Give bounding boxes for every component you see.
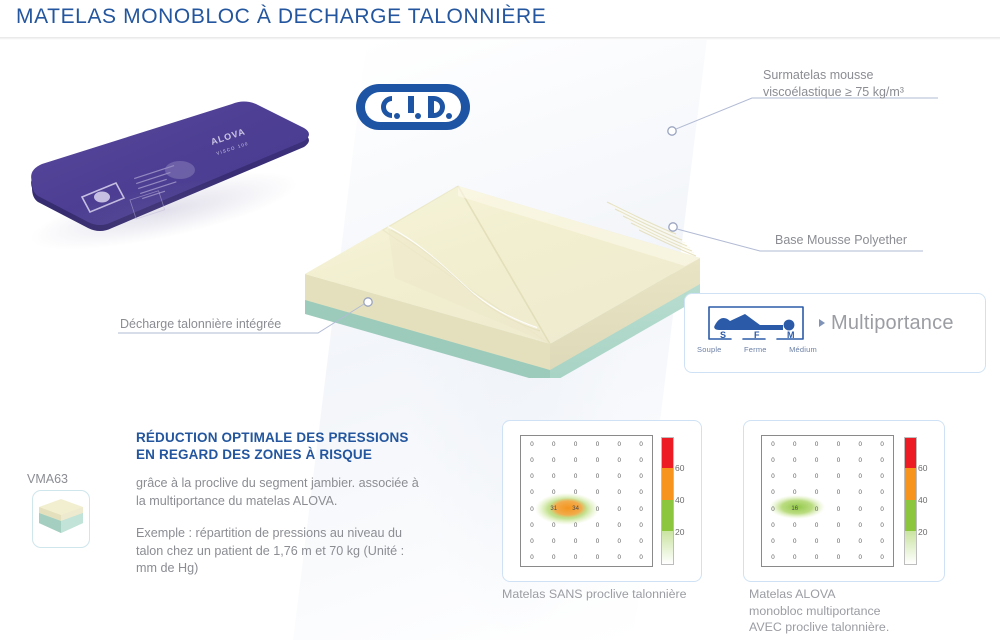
pressure-grid-cells-left: 0000000000000000000000000313400000000000… [521,436,652,566]
colorbar-ticks-left: 60 40 20 [675,437,699,563]
colorbar-left [661,437,674,565]
callout-base-mousse-line1: Base Mousse Polyether [775,232,907,249]
pressure-cell: 0 [849,534,871,550]
callout-surmatelas-line1: Surmatelas mousse [763,67,904,84]
pressure-cell: 0 [784,452,806,468]
pressure-cell: 0 [871,501,893,517]
pressure-cell: 0 [806,485,828,501]
description-paragraph-2: Exemple : répartition de pressions au ni… [136,525,426,578]
pressure-cell: 0 [630,501,652,517]
pressure-cell: 0 [784,550,806,566]
pressure-cell: 0 [871,534,893,550]
pressure-cell: 34 [565,501,587,517]
pressure-cell: 0 [806,550,828,566]
pressure-cell: 0 [543,517,565,533]
chart-caption-right-line2: monobloc multiportance [749,603,889,620]
pressure-cell: 0 [849,469,871,485]
pressure-cell: 0 [587,550,609,566]
pressure-cell: 0 [828,501,850,517]
pressure-cell: 0 [828,436,850,452]
colorbar-ticks-right: 60 40 20 [918,437,942,563]
chevron-right-icon [819,319,825,327]
multiportance-card[interactable]: S F M Souple Ferme Médium Multiportance [684,293,986,373]
svg-text:M: M [787,330,795,340]
pressure-cell: 0 [565,534,587,550]
product-code-label: VMA63 [27,472,68,486]
pressure-cell: 0 [565,517,587,533]
description-block: RÉDUCTION OPTIMALE DES PRESSIONS EN REGA… [136,430,426,578]
pressure-cell: 0 [806,469,828,485]
pressure-cell: 0 [565,469,587,485]
colorbar-right [904,437,917,565]
pressure-cell: 0 [849,485,871,501]
pressure-cell: 0 [630,517,652,533]
colorbar-tick-60-right: 60 [918,463,927,473]
pressure-cell: 0 [543,469,565,485]
callout-surmatelas-line2: viscoélastique ≥ 75 kg/m³ [763,84,904,101]
pressure-cell: 0 [871,517,893,533]
pressure-cell: 0 [587,485,609,501]
page-title: MATELAS MONOBLOC À DECHARGE TALONNIÈRE [16,5,546,29]
pressure-cell: 0 [806,501,828,517]
pressure-cell: 0 [608,485,630,501]
description-heading-line1: RÉDUCTION OPTIMALE DES PRESSIONS [136,430,426,447]
pressure-cell: 0 [608,550,630,566]
chart-caption-right-line1: Matelas ALOVA [749,586,889,603]
description-heading-line2: EN REGARD DES ZONES À RISQUE [136,447,426,464]
pressure-chart-card-left[interactable]: 0000000000000000000000000313400000000000… [502,420,702,582]
pressure-cell: 0 [521,517,543,533]
pressure-cell: 0 [565,436,587,452]
pressure-cell: 0 [849,550,871,566]
pressure-cell: 0 [762,469,784,485]
svg-text:S: S [720,330,726,340]
pressure-cell: 0 [784,517,806,533]
pressure-cell: 0 [871,452,893,468]
chart-caption-right: Matelas ALOVA monobloc multiportance AVE… [749,586,889,636]
firmness-label-souple: Souple [697,345,722,354]
mattress-3d-illustration [275,78,705,378]
firmness-legend: Souple Ferme Médium [697,345,817,354]
firmness-label-medium: Médium [789,345,817,354]
pressure-cell: 0 [762,534,784,550]
pressure-cell: 0 [828,452,850,468]
description-paragraph-1: grâce à la proclive du segment jambier. … [136,475,426,510]
pressure-cell: 0 [784,534,806,550]
pressure-cell: 0 [871,469,893,485]
firmness-label-ferme: Ferme [744,345,767,354]
pressure-chart-card-right[interactable]: 0000000000000000000000000160000000000000… [743,420,945,582]
callout-surmatelas: Surmatelas mousse viscoélastique ≥ 75 kg… [763,67,904,101]
pressure-cell: 0 [565,452,587,468]
callout-decharge-talonniere: Décharge talonnière intégrée [120,316,281,333]
pressure-cell: 0 [806,452,828,468]
pressure-cell: 0 [587,517,609,533]
pressure-cell: 0 [806,517,828,533]
pressure-cell: 0 [784,436,806,452]
pressure-cell: 0 [849,501,871,517]
pressure-cell: 0 [521,469,543,485]
pressure-cell: 0 [849,452,871,468]
pressure-cell: 0 [608,534,630,550]
pressure-cell: 0 [630,452,652,468]
pressure-cell: 0 [565,485,587,501]
pressure-cell: 0 [871,436,893,452]
pressure-cell: 0 [871,485,893,501]
pressure-cell: 0 [630,550,652,566]
chart-caption-right-line3: AVEC proclive talonnière. [749,619,889,636]
pressure-cell: 0 [587,452,609,468]
page-header: MATELAS MONOBLOC À DECHARGE TALONNIÈRE [0,0,1000,38]
pressure-cell: 0 [543,550,565,566]
pressure-cell: 0 [762,485,784,501]
svg-text:F: F [754,330,760,340]
pressure-cell: 0 [587,534,609,550]
pressure-cell: 0 [587,469,609,485]
colorbar-tick-40-left: 40 [675,495,684,505]
pressure-cell: 0 [608,501,630,517]
pressure-cell: 0 [630,469,652,485]
pressure-cell: 0 [521,485,543,501]
pressure-cell: 0 [565,550,587,566]
pressure-cell: 0 [630,534,652,550]
pressure-cell: 0 [608,436,630,452]
header-divider [0,37,1000,40]
pressure-cell: 0 [828,469,850,485]
pressure-cell: 0 [608,517,630,533]
pressure-cell: 0 [849,436,871,452]
pressure-cell: 31 [543,501,565,517]
pressure-grid-right: 0000000000000000000000000160000000000000… [761,435,894,567]
pressure-cell: 0 [762,501,784,517]
pressure-grid-cells-right: 0000000000000000000000000160000000000000… [762,436,893,566]
pressure-cell: 0 [828,550,850,566]
pressure-cell: 0 [521,534,543,550]
pressure-cell: 0 [630,436,652,452]
pressure-cell: 0 [543,534,565,550]
pressure-cell: 0 [521,501,543,517]
pressure-cell: 0 [762,452,784,468]
pressure-cell: 0 [521,436,543,452]
product-thumbnail[interactable] [32,490,90,548]
pressure-cell: 0 [608,452,630,468]
multiportance-label: Multiportance [831,312,954,335]
pressure-cell: 0 [849,517,871,533]
pressure-cell: 0 [521,452,543,468]
pressure-cell: 16 [784,501,806,517]
chart-caption-left: Matelas SANS proclive talonnière [502,586,687,603]
pressure-cell: 0 [762,436,784,452]
pressure-cell: 0 [608,469,630,485]
pressure-cell: 0 [828,534,850,550]
callout-decharge-talonniere-line1: Décharge talonnière intégrée [120,316,281,333]
pressure-cell: 0 [871,550,893,566]
pressure-cell: 0 [543,452,565,468]
pressure-cell: 0 [587,501,609,517]
description-heading: RÉDUCTION OPTIMALE DES PRESSIONS EN REGA… [136,430,426,463]
colorbar-tick-40-right: 40 [918,495,927,505]
pressure-cell: 0 [784,485,806,501]
pressure-cell: 0 [543,485,565,501]
pressure-cell: 0 [762,517,784,533]
callout-base-mousse: Base Mousse Polyether [775,232,907,249]
pressure-cell: 0 [828,517,850,533]
pressure-cell: 0 [784,469,806,485]
colorbar-tick-20-right: 20 [918,527,927,537]
pressure-cell: 0 [806,436,828,452]
colorbar-tick-60-left: 60 [675,463,684,473]
pressure-cell: 0 [828,485,850,501]
pressure-cell: 0 [521,550,543,566]
colorbar-tick-20-left: 20 [675,527,684,537]
pressure-cell: 0 [630,485,652,501]
pressure-cell: 0 [543,436,565,452]
firmness-zones-icon: S F M [705,303,807,343]
pressure-cell: 0 [806,534,828,550]
pressure-cell: 0 [762,550,784,566]
pressure-cell: 0 [587,436,609,452]
pressure-grid-left: 0000000000000000000000000313400000000000… [520,435,653,567]
